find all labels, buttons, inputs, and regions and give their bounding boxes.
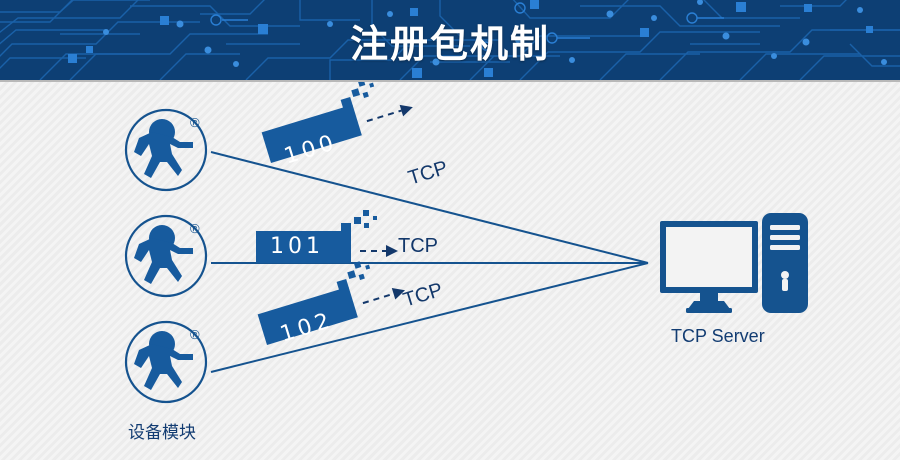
diagram-canvas: ® ® ® <box>0 82 900 460</box>
server-label: TCP Server <box>671 326 765 347</box>
protocol-label-3: TCP <box>401 279 446 313</box>
header-banner: 注册包机制 <box>0 0 900 80</box>
packet-label-2: 101 <box>270 234 324 259</box>
protocol-label-1: TCP <box>406 157 451 191</box>
device-group-label: 设备模块 <box>128 418 196 443</box>
packet-label-1: 100 <box>281 130 340 170</box>
page-title: 注册包机制 <box>0 0 900 80</box>
diagram-screenshot: 注册包机制 <box>0 0 900 460</box>
packet-label-3: 102 <box>277 308 336 348</box>
protocol-label-2: TCP <box>398 235 438 258</box>
